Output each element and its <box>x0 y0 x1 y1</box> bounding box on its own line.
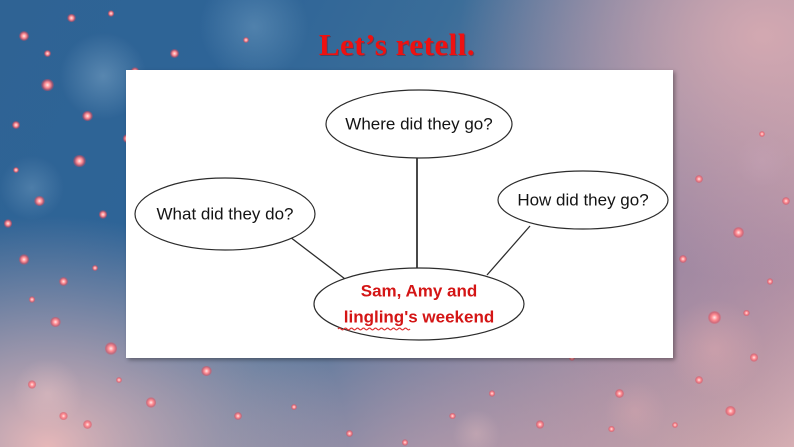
sparkle-dot <box>402 439 408 445</box>
sparkle-dot <box>695 376 703 384</box>
sparkle-dot <box>615 389 623 397</box>
sparkle-dot <box>679 255 687 263</box>
sparkle-dot <box>733 227 744 238</box>
sparkle-dot <box>201 366 212 377</box>
node-what-label: What did they do? <box>156 204 293 223</box>
node-what[interactable]: What did they do? <box>135 178 315 250</box>
sparkle-dot <box>116 377 122 383</box>
sparkle-dot <box>29 296 35 302</box>
sparkle-dot <box>743 310 749 316</box>
sparkle-dot <box>108 10 114 16</box>
sparkle-dot <box>34 196 45 207</box>
sparkle-dot <box>767 278 773 284</box>
page-title: Let’s retell. <box>0 27 794 63</box>
sparkle-dot <box>449 413 455 419</box>
sparkle-dot <box>489 390 495 396</box>
sparkle-dot <box>708 311 721 324</box>
sparkle-dot <box>41 79 54 92</box>
sparkle-dot <box>536 420 544 428</box>
sparkle-dot <box>82 111 93 122</box>
node-center-label-line2: lingling's weekend <box>344 307 494 326</box>
sparkle-dot <box>4 219 12 227</box>
node-how[interactable]: How did they go? <box>498 171 668 229</box>
slide-canvas: Let’s retell. Where did they go? What di… <box>0 0 794 447</box>
sparkle-dot <box>83 420 91 428</box>
sparkle-dot <box>725 406 736 417</box>
sparkle-dot <box>12 121 20 129</box>
sparkle-dot <box>234 412 242 420</box>
sparkle-dot <box>291 404 297 410</box>
sparkle-dot <box>346 430 352 436</box>
sparkle-dot <box>92 265 98 271</box>
mindmap-panel: Where did they go? What did they do? How… <box>126 70 673 358</box>
sparkle-dot <box>782 197 790 205</box>
node-where[interactable]: Where did they go? <box>326 90 512 158</box>
sparkle-dot <box>672 422 678 428</box>
sparkle-dot <box>99 210 107 218</box>
sparkle-dot <box>19 254 30 265</box>
node-where-label: Where did they go? <box>345 114 492 133</box>
sparkle-dot <box>67 14 75 22</box>
sparkle-dot <box>750 353 758 361</box>
node-center-label-line1: Sam, Amy and <box>361 281 478 300</box>
sparkle-dot <box>50 317 61 328</box>
sparkle-dot <box>608 426 614 432</box>
sparkle-dot <box>146 397 157 408</box>
node-center[interactable]: Sam, Amy and lingling's weekend <box>314 268 524 340</box>
connector-what-to-center <box>290 237 349 282</box>
sparkle-dot <box>73 155 86 168</box>
sparkle-dot <box>13 167 19 173</box>
sparkle-dot <box>695 175 703 183</box>
node-how-label: How did they go? <box>517 190 648 209</box>
sparkle-dot <box>105 342 118 355</box>
sparkle-dot <box>59 412 67 420</box>
sparkle-dot <box>759 131 765 137</box>
node-center-ellipse <box>314 268 524 340</box>
sparkle-dot <box>59 277 67 285</box>
connector-how-to-center <box>487 226 530 275</box>
sparkle-dot <box>28 380 36 388</box>
